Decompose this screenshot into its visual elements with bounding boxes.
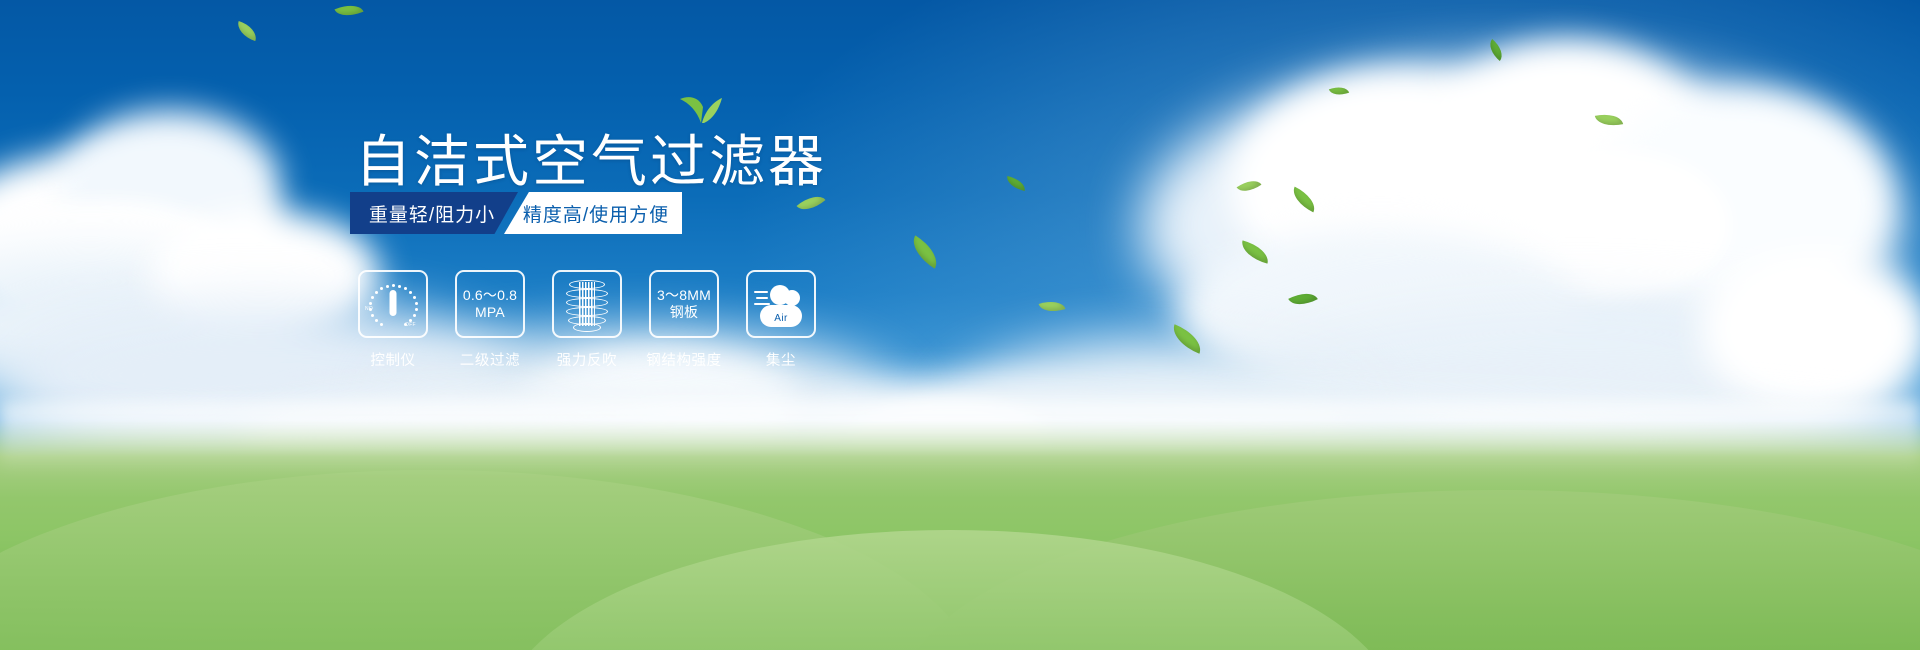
gauge-label-off: OFF [405, 322, 416, 328]
gauge-label-no: NO [365, 306, 373, 312]
feature-item-pressure: 0.6〜0.8 MPA 二级过滤 [455, 270, 525, 370]
feature-caption-blowback: 强力反吹 [557, 349, 617, 370]
feature-box-dust: Air [746, 270, 816, 338]
page-title: 自洁式空气过滤器 [355, 134, 827, 190]
feature-box-blowback [552, 270, 622, 338]
feature-caption-controller: 控制仪 [370, 349, 415, 370]
pressure-line-2: MPA [463, 304, 517, 321]
steel-line-2: 钢板 [657, 304, 711, 321]
feature-item-dust: Air 集尘 [746, 270, 816, 370]
feature-item-blowback: 强力反吹 [552, 270, 622, 370]
title-leaf-icon [679, 93, 723, 123]
badge-lightweight: 重量轻/阻力小 [350, 192, 518, 234]
feature-item-steel: 3〜8MM 钢板 钢结构强度 [649, 270, 719, 370]
feature-list: NO OFF 控制仪 0.6〜0.8 MPA 二级过滤 [358, 270, 816, 370]
steel-plate-text-icon: 3〜8MM 钢板 [657, 287, 711, 321]
feature-box-steel: 3〜8MM 钢板 [649, 270, 719, 338]
banner-content: 自洁式空气过滤器 重量轻/阻力小 精度高/使用方便 [0, 0, 1920, 650]
feature-caption-dust: 集尘 [766, 349, 796, 370]
badge-group: 重量轻/阻力小 精度高/使用方便 [350, 192, 682, 234]
gauge-dial-icon: NO OFF [365, 278, 421, 330]
badge-lightweight-label: 重量轻/阻力小 [369, 200, 495, 227]
banner-stage: 自洁式空气过滤器 重量轻/阻力小 精度高/使用方便 [0, 0, 1920, 650]
feature-box-controller: NO OFF [358, 270, 428, 338]
feature-caption-steel: 钢结构强度 [646, 349, 722, 370]
air-label: Air [774, 313, 787, 324]
badge-precision: 精度高/使用方便 [504, 192, 682, 234]
feature-box-pressure: 0.6〜0.8 MPA [455, 270, 525, 338]
feature-item-controller: NO OFF 控制仪 [358, 270, 428, 370]
feature-caption-pressure: 二级过滤 [460, 349, 520, 370]
cloud-air-icon: Air [754, 281, 808, 327]
badge-precision-label: 精度高/使用方便 [523, 200, 669, 227]
steel-line-1: 3〜8MM [657, 287, 711, 304]
pressure-text-icon: 0.6〜0.8 MPA [463, 287, 517, 321]
filter-cartridge-icon [566, 278, 608, 330]
pressure-line-1: 0.6〜0.8 [463, 287, 517, 304]
